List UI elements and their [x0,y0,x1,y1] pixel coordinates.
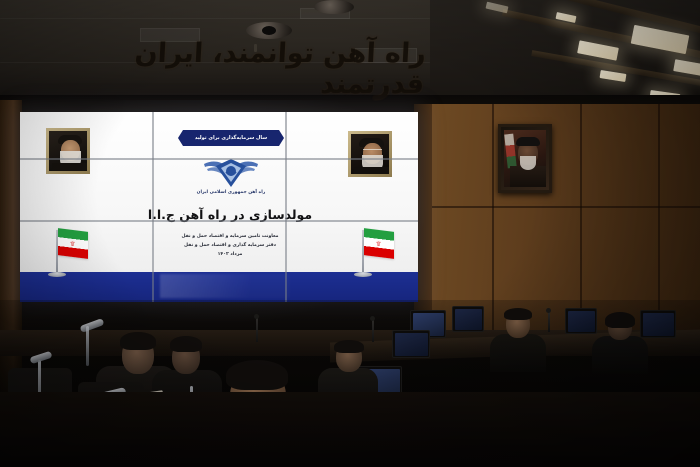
ceiling-speaker-dome [314,0,354,14]
portrait-right-robe [354,167,389,174]
microphone-2-head [370,316,375,321]
videowall-bezel-vertical-2 [285,112,287,302]
videowall-screen: سال سرمایه‌گذاری برای تولید [20,112,418,302]
attendee-mid-right-hair [334,340,364,353]
portrait-right-glasses [363,149,382,153]
ceiling-light-panel-2 [577,40,619,60]
attendee-back-center-hair [170,336,202,352]
frame-portrait-beard [520,156,536,170]
iran-desk-flag-right: ۩ [358,230,398,286]
monitor-far-left-screen [395,333,428,356]
flag-base-left [48,272,66,277]
table-foreground [0,392,700,467]
videowall-bezel-horizontal-1 [20,158,418,160]
presentation-video-wall[interactable]: سال سرمایه‌گذاری برای تولید [20,112,418,302]
framed-portrait-khamenei [498,124,552,193]
monitor-right-3-screen [568,311,595,332]
ceiling-tile-seam-1 [0,18,430,19]
wall-calligraphy: راه آهن توانمند، ایران قدرتمند [93,38,426,100]
microphone-3-head [546,308,551,313]
portrait-left-photo [49,131,87,171]
conference-room-photo: راه آهن توانمند، ایران قدرتمند سال سرمای… [0,0,700,467]
videowall-bezel-horizontal-2 [20,220,418,222]
ceiling-light-panel-7 [485,2,508,14]
attendee-right-1-hair [504,308,532,320]
microphone-1 [256,318,258,342]
wood-seam-h1 [430,206,700,208]
videowall-bezel-vertical-1 [152,112,154,302]
monitor-right-2-screen [455,309,482,330]
monitor-right-2[interactable] [452,306,484,332]
frame-flag-icon [504,134,517,169]
iran-desk-flag-left: ۩ [52,230,92,286]
attendee-foreground-hair [226,360,288,390]
attendee-right-1-body [490,334,546,372]
portrait-left-robe [52,163,87,171]
chair-back-post-1 [86,326,89,366]
attendee-right-2 [592,312,648,374]
microphone-1-head [254,314,259,319]
flag-emblem-left-icon: ۩ [69,241,76,247]
frame-portrait-turban [516,137,540,146]
emblem-caption: راه آهن جمهوری اسلامی ایران [186,190,276,195]
attendee-right-1 [490,308,546,372]
flag-emblem-right-icon: ۩ [375,241,382,247]
dome-lens-icon [262,26,276,35]
slide-reflection [160,274,290,298]
portrait-ayatollah-khamenei [348,131,392,177]
attendee-back-left-hair [120,332,156,350]
monitor-far-left[interactable] [392,330,430,358]
slide-banner: سال سرمایه‌گذاری برای تولید [178,130,284,146]
microphone-2 [372,320,374,342]
portrait-right-photo [351,134,389,174]
rai-winged-emblem [202,155,260,191]
attendee-right-2-hair [605,312,635,328]
ceiling-light-panel-3 [673,59,700,77]
attendee-right-2-body [592,336,648,374]
flag-base-right [354,272,372,277]
frame-inner [504,130,546,187]
microphone-3 [548,312,550,332]
portrait-imam-khomeini [46,128,90,174]
